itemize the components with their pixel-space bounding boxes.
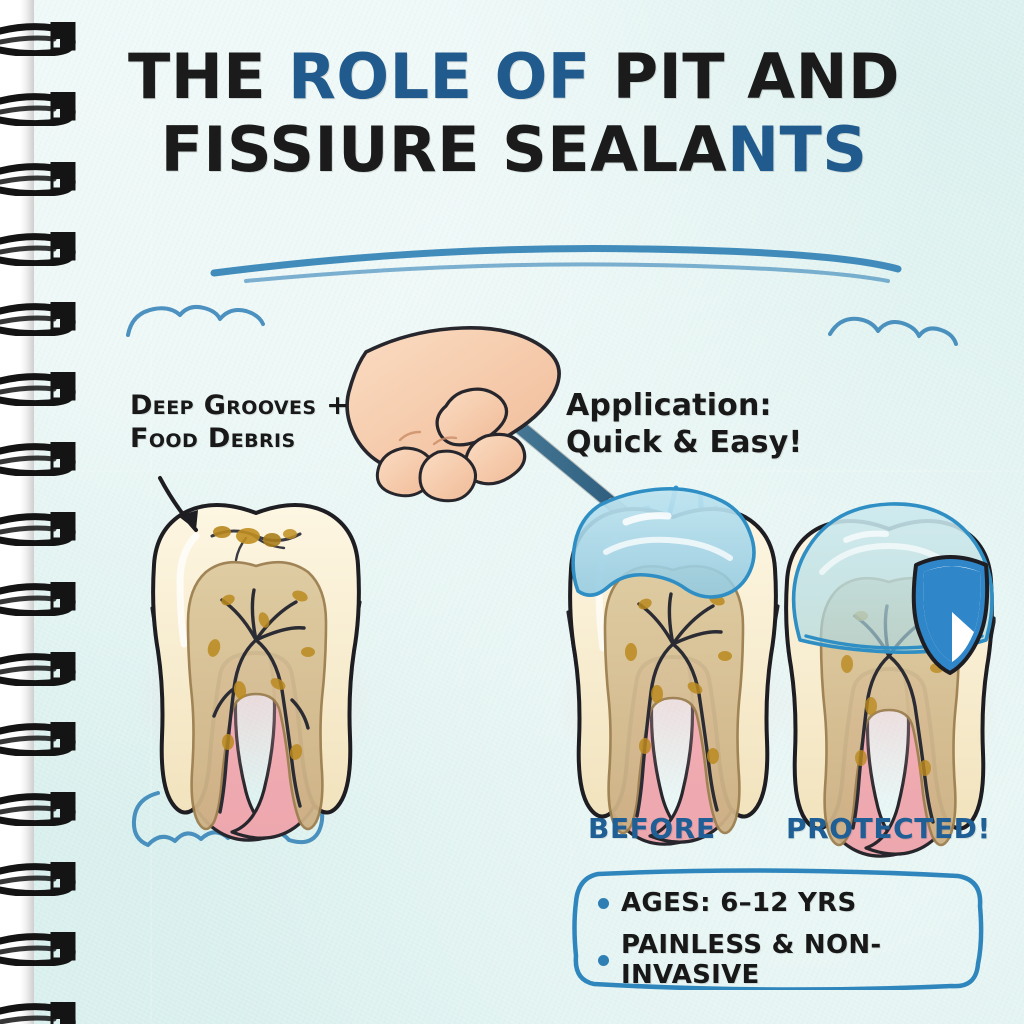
application-label-line-2: Quick & Easy! bbox=[566, 425, 802, 462]
tooth-decayed bbox=[136, 505, 376, 840]
list-item: AGES: 6–12 YRS bbox=[598, 888, 984, 918]
fact-text: AGES: 6–12 YRS bbox=[621, 888, 857, 918]
spiral-coil bbox=[0, 232, 98, 266]
debris-label-line-1: Deep Grooves + bbox=[130, 390, 349, 423]
title-seg-4: FISSIURE SEALA bbox=[161, 113, 728, 186]
spiral-coil bbox=[0, 792, 98, 826]
spiral-coil bbox=[0, 162, 98, 196]
spiral-coil bbox=[0, 92, 98, 126]
tooth-being-sealed bbox=[555, 489, 791, 844]
title-seg-1: THE bbox=[128, 40, 288, 113]
decor-wave-top-left bbox=[128, 307, 263, 335]
label-application: Application: Quick & Easy! bbox=[566, 388, 802, 461]
facts-list: AGES: 6–12 YRS PAINLESS & NON-INVASIVE bbox=[598, 888, 984, 1002]
title-line-2: FISSIURE SEALANTS bbox=[34, 121, 994, 180]
title-seg-2: ROLE OF bbox=[288, 40, 613, 113]
spiral-coil bbox=[0, 1002, 98, 1024]
title-line-1: THE ROLE OF PIT AND bbox=[34, 48, 994, 107]
spiral-coil bbox=[0, 442, 98, 476]
caption-protected: PROTECTED! bbox=[786, 812, 991, 845]
spiral-coil bbox=[0, 582, 98, 616]
list-item: PAINLESS & NON-INVASIVE bbox=[598, 930, 984, 990]
tooth-protected bbox=[777, 504, 1001, 856]
bullet-dot-icon bbox=[598, 898, 609, 909]
page-title: THE ROLE OF PIT AND FISSIURE SEALANTS bbox=[34, 48, 994, 180]
spiral-coil bbox=[0, 302, 98, 336]
caption-before: BEFORE bbox=[588, 812, 716, 845]
label-deep-grooves-food-debris: Deep Grooves + Food Debris bbox=[130, 390, 349, 456]
spiral-coil bbox=[0, 512, 98, 546]
bullet-dot-icon bbox=[598, 955, 609, 966]
spiral-coil bbox=[0, 722, 98, 756]
spiral-coil bbox=[0, 862, 98, 896]
debris-label-line-2: Food Debris bbox=[130, 423, 349, 456]
notebook-page: THE ROLE OF PIT AND FISSIURE SEALANTS De… bbox=[0, 0, 1024, 1024]
spiral-coil bbox=[0, 22, 98, 56]
title-underline bbox=[214, 249, 898, 282]
spiral-coil bbox=[0, 372, 98, 406]
application-label-line-1: Application: bbox=[566, 388, 802, 425]
title-seg-3: PIT AND bbox=[613, 40, 900, 113]
decor-wave-top-right bbox=[830, 319, 956, 344]
fact-text: PAINLESS & NON-INVASIVE bbox=[621, 930, 984, 990]
title-seg-5: NTS bbox=[727, 113, 867, 186]
spiral-coil bbox=[0, 932, 98, 966]
spiral-coil bbox=[0, 652, 98, 686]
